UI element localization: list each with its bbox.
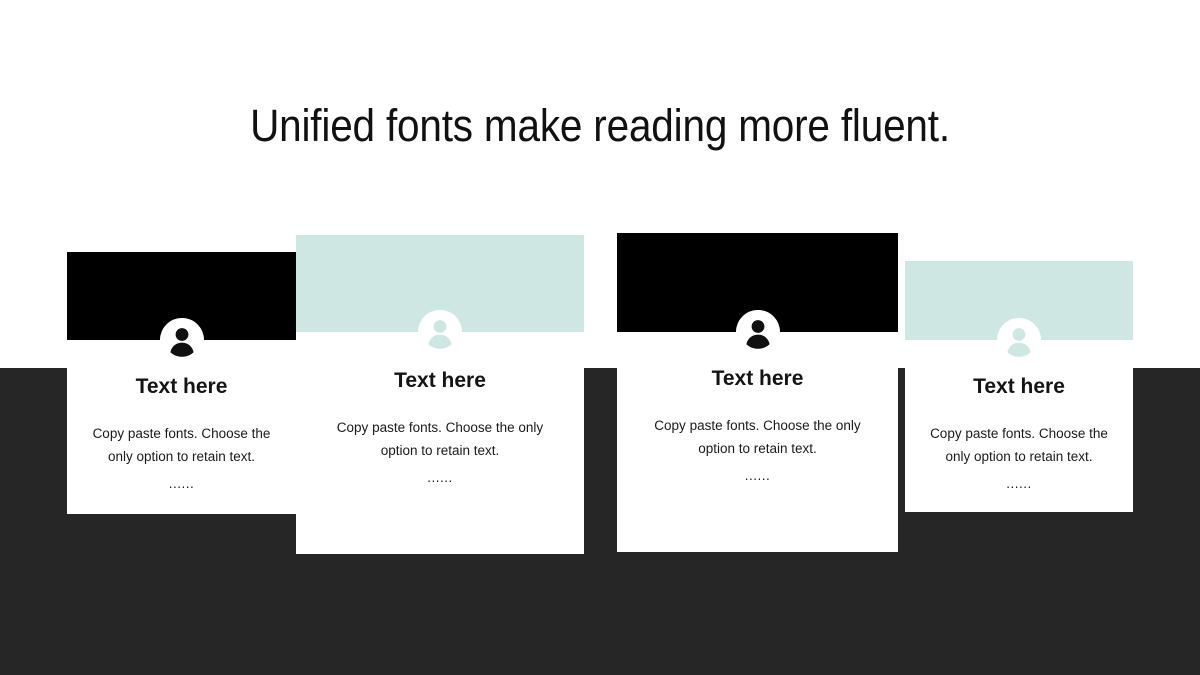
spacer — [625, 392, 890, 414]
card-4-header — [905, 261, 1133, 340]
spacer — [304, 394, 576, 416]
card-3-dots: ...... — [625, 464, 890, 487]
card-2-dots: ...... — [304, 466, 576, 489]
feature-card-4[interactable]: Text here Copy paste fonts. Choose the o… — [905, 261, 1133, 512]
card-1-body: Text here Copy paste fonts. Choose the o… — [67, 340, 296, 495]
card-3-text: Copy paste fonts. Choose the only option… — [625, 414, 890, 460]
feature-card-2[interactable]: Text here Copy paste fonts. Choose the o… — [296, 235, 584, 554]
card-3-body: Text here Copy paste fonts. Choose the o… — [617, 332, 898, 487]
card-3-title: Text here — [625, 366, 890, 392]
person-avatar-icon — [160, 318, 204, 362]
slide-canvas: Unified fonts make reading more fluent. … — [0, 0, 1200, 675]
card-4-body: Text here Copy paste fonts. Choose the o… — [905, 340, 1133, 495]
card-2-title: Text here — [304, 368, 576, 394]
card-1-title: Text here — [75, 374, 288, 400]
card-4-text: Copy paste fonts. Choose the only option… — [913, 422, 1125, 468]
card-4-title: Text here — [913, 374, 1125, 400]
page-title: Unified fonts make reading more fluent. — [60, 96, 1140, 156]
person-avatar-icon — [997, 318, 1041, 362]
card-2-header — [296, 235, 584, 332]
person-avatar-icon — [736, 310, 780, 354]
card-1-dots: ...... — [75, 472, 288, 495]
spacer — [75, 400, 288, 422]
card-1-text: Copy paste fonts. Choose the only option… — [75, 422, 288, 468]
card-2-body: Text here Copy paste fonts. Choose the o… — [296, 332, 584, 489]
card-1-header — [67, 252, 296, 340]
card-4-dots: ...... — [913, 472, 1125, 495]
feature-card-3[interactable]: Text here Copy paste fonts. Choose the o… — [617, 233, 898, 552]
spacer — [913, 400, 1125, 422]
person-avatar-icon — [418, 310, 462, 354]
card-3-header — [617, 233, 898, 332]
feature-card-1[interactable]: Text here Copy paste fonts. Choose the o… — [67, 252, 296, 514]
card-2-text: Copy paste fonts. Choose the only option… — [304, 416, 576, 462]
